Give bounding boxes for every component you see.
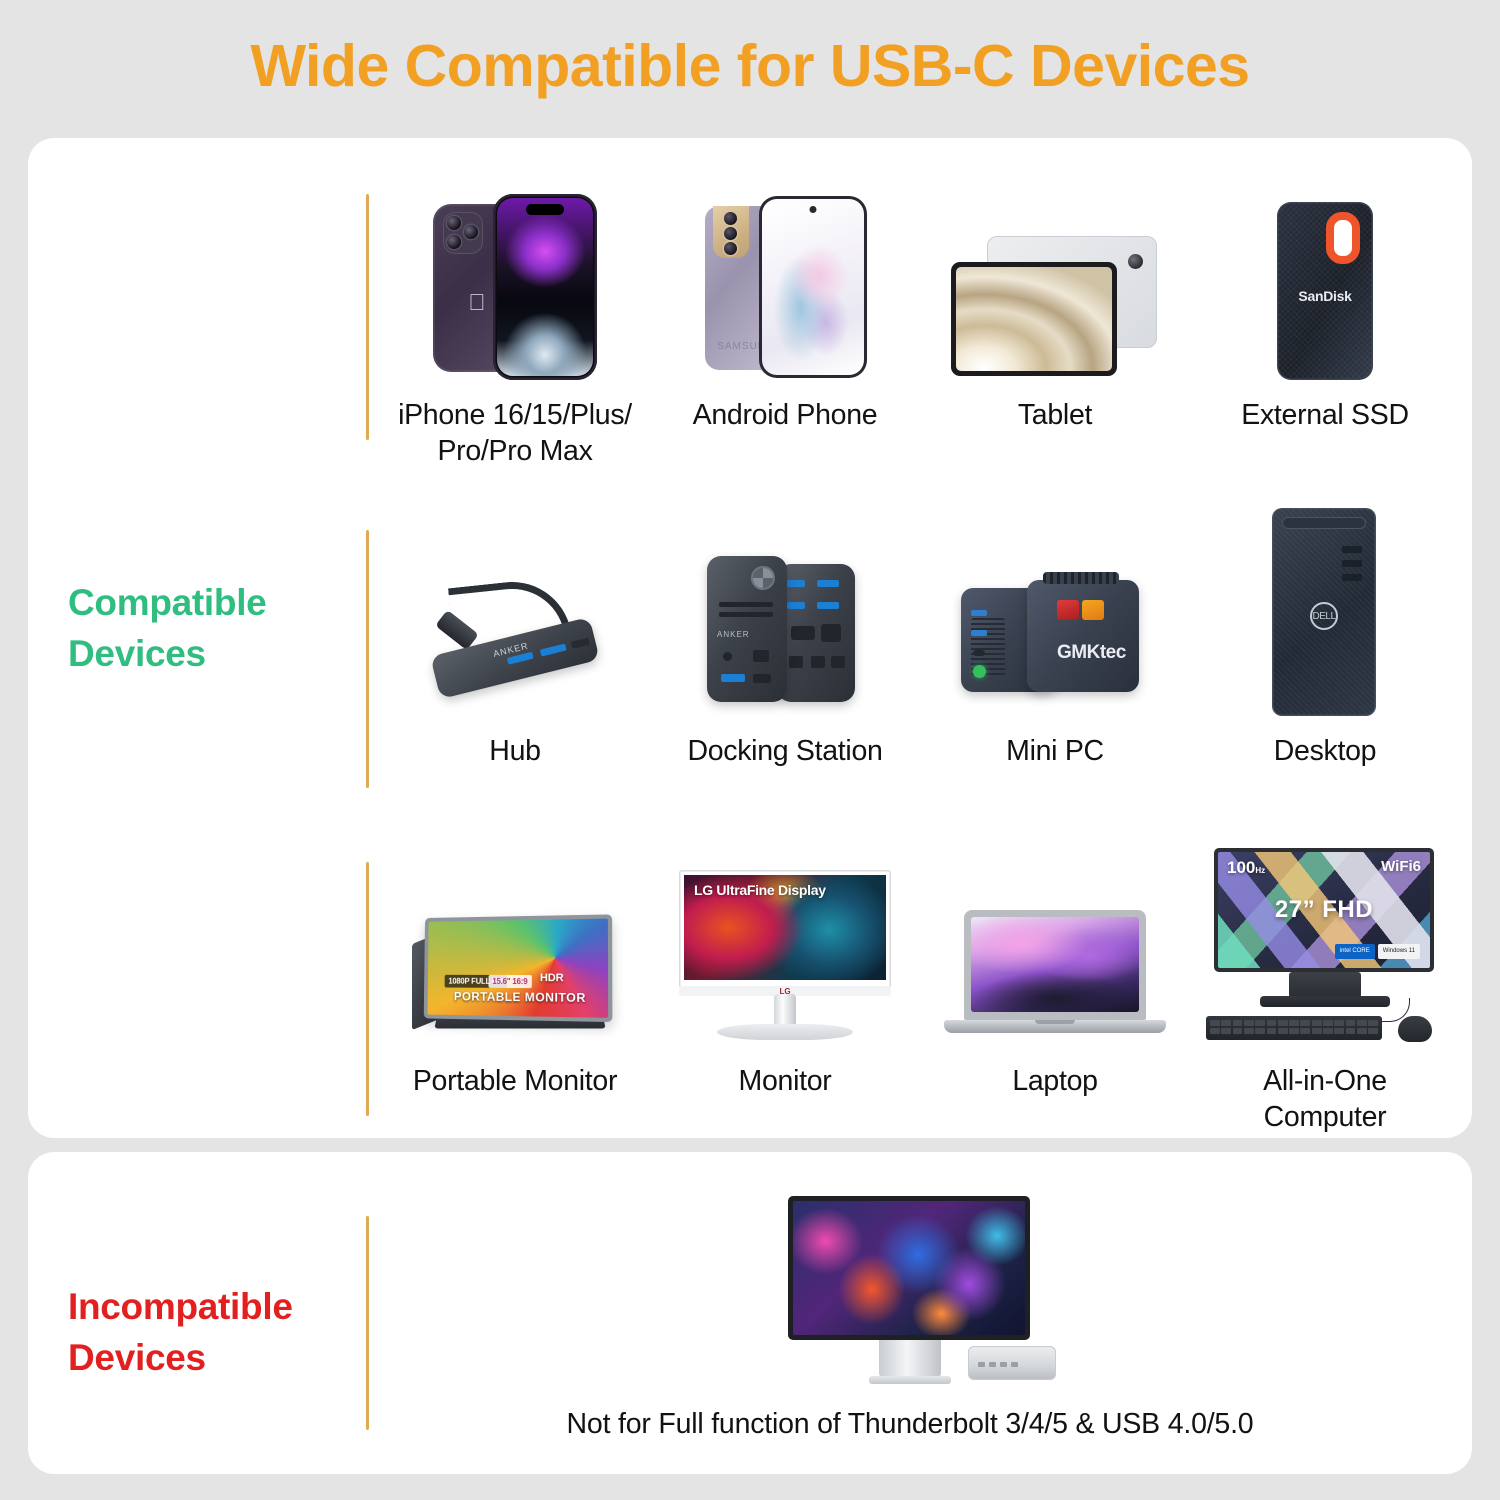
compatible-devices-label: Compatible Devices — [68, 578, 338, 679]
device-caption: Desktop — [1274, 734, 1376, 770]
device-cell-iphone[interactable]:  iPhone 16/15/Plus/ Pro/Pro Max — [380, 182, 650, 470]
device-cell-tablet[interactable]: Tablet — [920, 182, 1190, 470]
device-cell-hub[interactable]: ANKER Hub — [380, 518, 650, 770]
row-divider-3 — [366, 862, 369, 1116]
page-title: Wide Compatible for USB-C Devices — [0, 0, 1500, 98]
all-in-one-computer-icon: 100Hz WiFi6 27” FHD intel CORE Windows 1… — [1190, 848, 1460, 1048]
compatible-row-3: 1080P FULL HD 15.6" 16:9 HDR PORTABLE MO… — [380, 848, 1460, 1136]
row-divider-1 — [366, 194, 369, 440]
device-caption: Monitor — [739, 1064, 832, 1100]
device-caption: Tablet — [1018, 398, 1092, 434]
device-cell-laptop[interactable]: Laptop — [920, 848, 1190, 1136]
android-phone-icon: SAMSUNG — [650, 182, 920, 382]
pm-badge-size: 15.6" 16:9 — [488, 975, 531, 988]
compatible-row-2: ANKER Hub — [380, 518, 1460, 770]
pm-badge-name: PORTABLE MONITOR — [450, 988, 590, 1008]
tablet-icon — [920, 182, 1190, 382]
usb-hub-icon: ANKER — [380, 518, 650, 718]
aio-windows-badge: Windows 11 — [1378, 944, 1420, 959]
device-caption: External SSD — [1241, 398, 1408, 434]
mini-pc-brand-label: GMKtec — [1057, 642, 1126, 664]
aio-intel-badge: intel CORE — [1335, 944, 1375, 959]
device-cell-portable-monitor[interactable]: 1080P FULL HD 15.6" 16:9 HDR PORTABLE MO… — [380, 848, 650, 1136]
device-caption: Portable Monitor — [413, 1064, 617, 1100]
aio-wifi-badge: WiFi6 — [1381, 858, 1421, 875]
device-caption: Android Phone — [693, 398, 878, 434]
mini-pc-icon: GMKtec — [920, 518, 1190, 718]
device-caption: Hub — [489, 734, 540, 770]
device-caption: iPhone 16/15/Plus/ Pro/Pro Max — [398, 398, 632, 470]
ssd-brand-label: SanDisk — [1277, 288, 1373, 304]
device-caption: All-in-One Computer — [1263, 1064, 1387, 1136]
device-cell-external-ssd[interactable]: SanDisk External SSD — [1190, 182, 1460, 470]
desktop-brand-label: DELL — [1310, 602, 1338, 630]
iphone-icon:  — [380, 182, 650, 382]
device-cell-monitor[interactable]: LG UltraFine Display LG Monitor — [650, 848, 920, 1136]
aio-refresh-value: 100 — [1227, 858, 1255, 877]
device-caption: Laptop — [1012, 1064, 1097, 1100]
incompatible-note: Not for Full function of Thunderbolt 3/4… — [380, 1408, 1440, 1441]
device-cell-all-in-one[interactable]: 100Hz WiFi6 27” FHD intel CORE Windows 1… — [1190, 848, 1460, 1136]
monitor-screen-text: LG UltraFine Display — [694, 882, 826, 898]
incompatible-devices-label: Incompatible Devices — [68, 1282, 358, 1383]
portable-monitor-icon: 1080P FULL HD 15.6" 16:9 HDR PORTABLE MO… — [380, 848, 650, 1048]
device-caption: Mini PC — [1006, 734, 1104, 770]
compatible-row-1:  iPhone 16/15/Plus/ Pro/Pro Max SAMSUNG — [380, 182, 1460, 470]
dock-brand-label: ANKER — [717, 630, 750, 639]
desktop-tower-icon: DELL — [1190, 518, 1460, 718]
monitor-icon: LG UltraFine Display LG — [650, 848, 920, 1048]
device-cell-docking-station[interactable]: ANKER Docking Station — [650, 518, 920, 770]
device-cell-desktop[interactable]: DELL Desktop — [1190, 518, 1460, 770]
row-divider-4 — [366, 1216, 369, 1430]
aio-refresh-unit: Hz — [1255, 866, 1265, 875]
device-cell-mini-pc[interactable]: GMKtec Mini PC — [920, 518, 1190, 770]
row-divider-2 — [366, 530, 369, 788]
aio-size-text: 27” FHD — [1275, 896, 1373, 924]
laptop-icon — [920, 848, 1190, 1048]
device-cell-android-phone[interactable]: SAMSUNG Android Phone — [650, 182, 920, 470]
device-caption: Docking Station — [687, 734, 882, 770]
studio-display-icon — [760, 1196, 1060, 1396]
external-ssd-icon: SanDisk — [1190, 182, 1460, 382]
docking-station-icon: ANKER — [650, 518, 920, 718]
pm-badge-hdr: HDR — [536, 970, 568, 986]
